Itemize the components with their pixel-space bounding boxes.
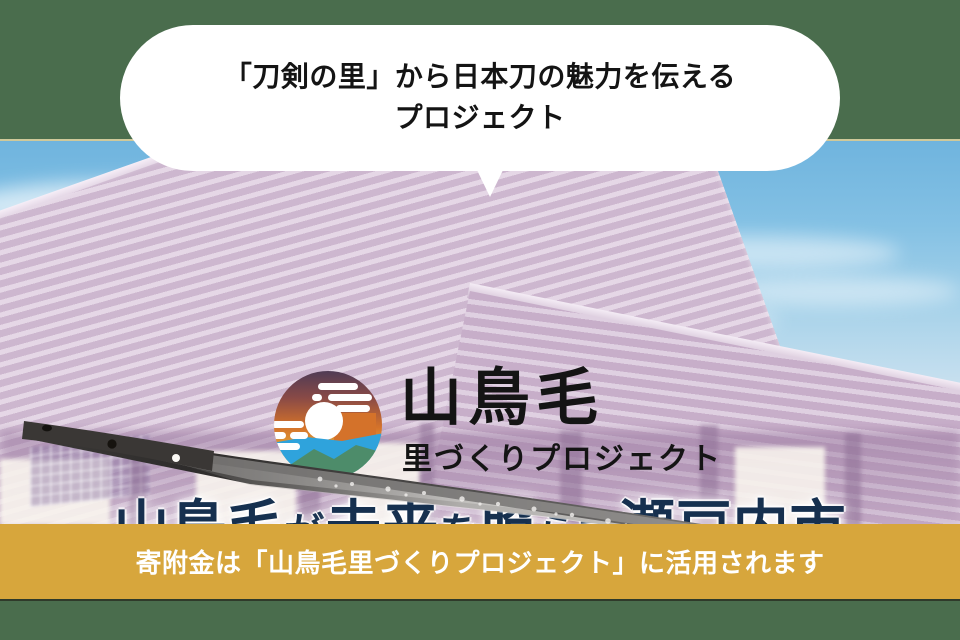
- katana-sanchomo-blade: [0, 280, 960, 524]
- callout-bubble-text: 「刀剣の里」から日本刀の魅力を伝える プロジェクト: [224, 57, 736, 138]
- callout-line-1: 「刀剣の里」から日本刀の魅力を伝える: [224, 60, 736, 93]
- bottom-frame-strip: [0, 603, 960, 640]
- callout-bubble: 「刀剣の里」から日本刀の魅力を伝える プロジェクト: [120, 25, 840, 171]
- donation-project-banner: 山鳥毛 里づくりプロジェクト 山鳥毛が未来を照らす瀬戸内市: [0, 0, 960, 640]
- callout-line-2: プロジェクト: [394, 101, 565, 134]
- footer-bar-text: 寄附金は「山鳥毛里づくりプロジェクト」に活用されます: [135, 543, 824, 580]
- callout-bubble-tail: [476, 168, 504, 197]
- footer-highlight-bar: 寄附金は「山鳥毛里づくりプロジェクト」に活用されます: [0, 524, 960, 601]
